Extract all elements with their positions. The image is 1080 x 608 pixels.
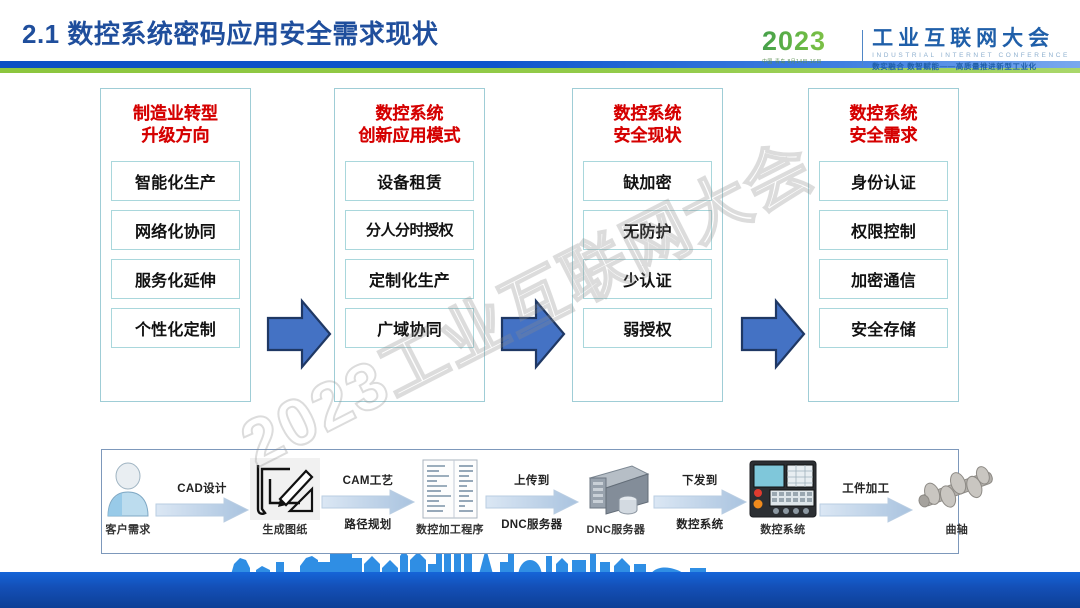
panel-manufacturing-transformation: 制造业转型 升级方向 智能化生产 网络化协同 服务化延伸 个性化定制 bbox=[100, 88, 251, 402]
logo-year-text: 2023 bbox=[762, 28, 860, 55]
process-step-label-bottom: DNC服务器 bbox=[501, 516, 562, 532]
panel-cnc-innovation-modes: 数控系统 创新应用模式 设备租赁 分人分时授权 定制化生产 广域协同 bbox=[334, 88, 485, 402]
process-step-label-bottom: 数控系统 bbox=[676, 516, 723, 532]
logo-tagline: 数实融合 数智赋能——高质量推进新型工业化 bbox=[872, 61, 1070, 72]
panel-item[interactable]: 弱授权 bbox=[583, 308, 712, 348]
logo-title-en: INDUSTRIAL INTERNET CONFERENCE bbox=[872, 52, 1070, 59]
panel-item[interactable]: 设备租赁 bbox=[345, 161, 474, 201]
panel-title: 制造业转型 升级方向 bbox=[133, 103, 218, 148]
panel-title: 数控系统 安全现状 bbox=[614, 103, 682, 148]
right-arrow-icon bbox=[484, 489, 580, 515]
panel-title: 数控系统 安全需求 bbox=[850, 103, 918, 148]
process-step-send-to-cnc: 下发到 数控系统 bbox=[652, 454, 748, 550]
panel-cnc-security-requirements: 数控系统 安全需求 身份认证 权限控制 加密通信 安全存储 bbox=[808, 88, 959, 402]
footer-band bbox=[0, 572, 1080, 608]
process-node-dnc-server: DNC服务器 bbox=[580, 454, 652, 550]
drawing-icon bbox=[250, 458, 320, 520]
code-listing-icon bbox=[419, 458, 481, 520]
process-step-cam-path: CAM工艺 路径规划 bbox=[320, 454, 416, 550]
panel-item[interactable]: 定制化生产 bbox=[345, 259, 474, 299]
panel-item[interactable]: 身份认证 bbox=[819, 161, 948, 201]
panel-item[interactable]: 网络化协同 bbox=[111, 210, 240, 250]
process-node-caption: 曲轴 bbox=[946, 521, 969, 537]
panel-item[interactable]: 缺加密 bbox=[583, 161, 712, 201]
logo-date-venue: 中国·青岛 8月14日-16日 bbox=[762, 58, 860, 65]
process-node-caption: DNC服务器 bbox=[586, 521, 645, 537]
right-arrow-icon bbox=[320, 489, 416, 515]
panel-item[interactable]: 加密通信 bbox=[819, 259, 948, 299]
logo-text-block: 工业互联网大会 INDUSTRIAL INTERNET CONFERENCE 数… bbox=[872, 28, 1070, 72]
process-node-caption: 客户需求 bbox=[105, 521, 150, 537]
right-arrow-icon bbox=[652, 489, 748, 515]
process-node-caption: 数控系统 bbox=[760, 521, 805, 537]
process-step-label-top: 工件加工 bbox=[842, 480, 889, 496]
logo-title-cn: 工业互联网大会 bbox=[872, 28, 1070, 50]
panel-item[interactable]: 智能化生产 bbox=[111, 161, 240, 201]
slide-canvas: 2.1 数控系统密码应用安全需求现状 2023 中国·青岛 8月14日-16日 … bbox=[0, 0, 1080, 608]
panel-item[interactable]: 权限控制 bbox=[819, 210, 948, 250]
process-node-nc-program: 数控加工程序 bbox=[416, 454, 484, 550]
panel-item[interactable]: 无防护 bbox=[583, 210, 712, 250]
panel-item[interactable]: 服务化延伸 bbox=[111, 259, 240, 299]
process-step-machining: 工件加工 bbox=[818, 454, 914, 550]
flow-arrow-icon bbox=[266, 298, 332, 370]
conference-logo: 2023 中国·青岛 8月14日-16日 工业互联网大会 INDUSTRIAL … bbox=[762, 28, 1070, 74]
process-step-label-top: 下发到 bbox=[682, 472, 717, 488]
page-title: 2.1 数控系统密码应用安全需求现状 bbox=[22, 14, 438, 51]
panel-title: 数控系统 创新应用模式 bbox=[359, 103, 461, 148]
process-step-label-top: CAM工艺 bbox=[343, 472, 394, 488]
panel-item[interactable]: 个性化定制 bbox=[111, 308, 240, 348]
panel-cnc-security-status: 数控系统 安全现状 缺加密 无防护 少认证 弱授权 bbox=[572, 88, 723, 402]
process-step-upload-dnc: 上传到 DNC服务器 bbox=[484, 454, 580, 550]
person-icon bbox=[102, 458, 154, 520]
process-node-crankshaft: 曲轴 bbox=[914, 454, 1000, 550]
process-node-cnc-system: 数控系统 bbox=[748, 454, 818, 550]
process-node-caption: 数控加工程序 bbox=[416, 521, 484, 537]
right-arrow-icon bbox=[154, 497, 250, 523]
process-flow-panel: 客户需求 CAD设计 生成图纸 bbox=[101, 449, 959, 554]
process-step-cad-design: CAD设计 bbox=[154, 454, 250, 550]
flow-arrow-icon bbox=[500, 298, 566, 370]
panel-item[interactable]: 少认证 bbox=[583, 259, 712, 299]
panel-item[interactable]: 分人分时授权 bbox=[345, 210, 474, 250]
process-step-label-top: 上传到 bbox=[514, 472, 549, 488]
process-step-label-top: CAD设计 bbox=[177, 480, 226, 496]
logo-divider bbox=[862, 30, 863, 66]
process-node-caption: 生成图纸 bbox=[262, 521, 307, 537]
flow-arrow-icon bbox=[740, 298, 806, 370]
panel-item[interactable]: 广域协同 bbox=[345, 308, 474, 348]
crankshaft-icon bbox=[914, 458, 1000, 520]
panel-item[interactable]: 安全存储 bbox=[819, 308, 948, 348]
process-node-customer: 客户需求 bbox=[102, 454, 154, 550]
process-step-label-bottom: 路径规划 bbox=[344, 516, 391, 532]
process-node-drawing: 生成图纸 bbox=[250, 454, 320, 550]
pillar-columns: 制造业转型 升级方向 智能化生产 网络化协同 服务化延伸 个性化定制 数控系统 … bbox=[0, 88, 1080, 408]
right-arrow-icon bbox=[818, 497, 914, 523]
cnc-panel-icon bbox=[748, 458, 818, 520]
footer-skyline bbox=[0, 548, 1080, 608]
server-icon bbox=[580, 458, 652, 520]
logo-year-block: 2023 中国·青岛 8月14日-16日 bbox=[762, 28, 860, 65]
